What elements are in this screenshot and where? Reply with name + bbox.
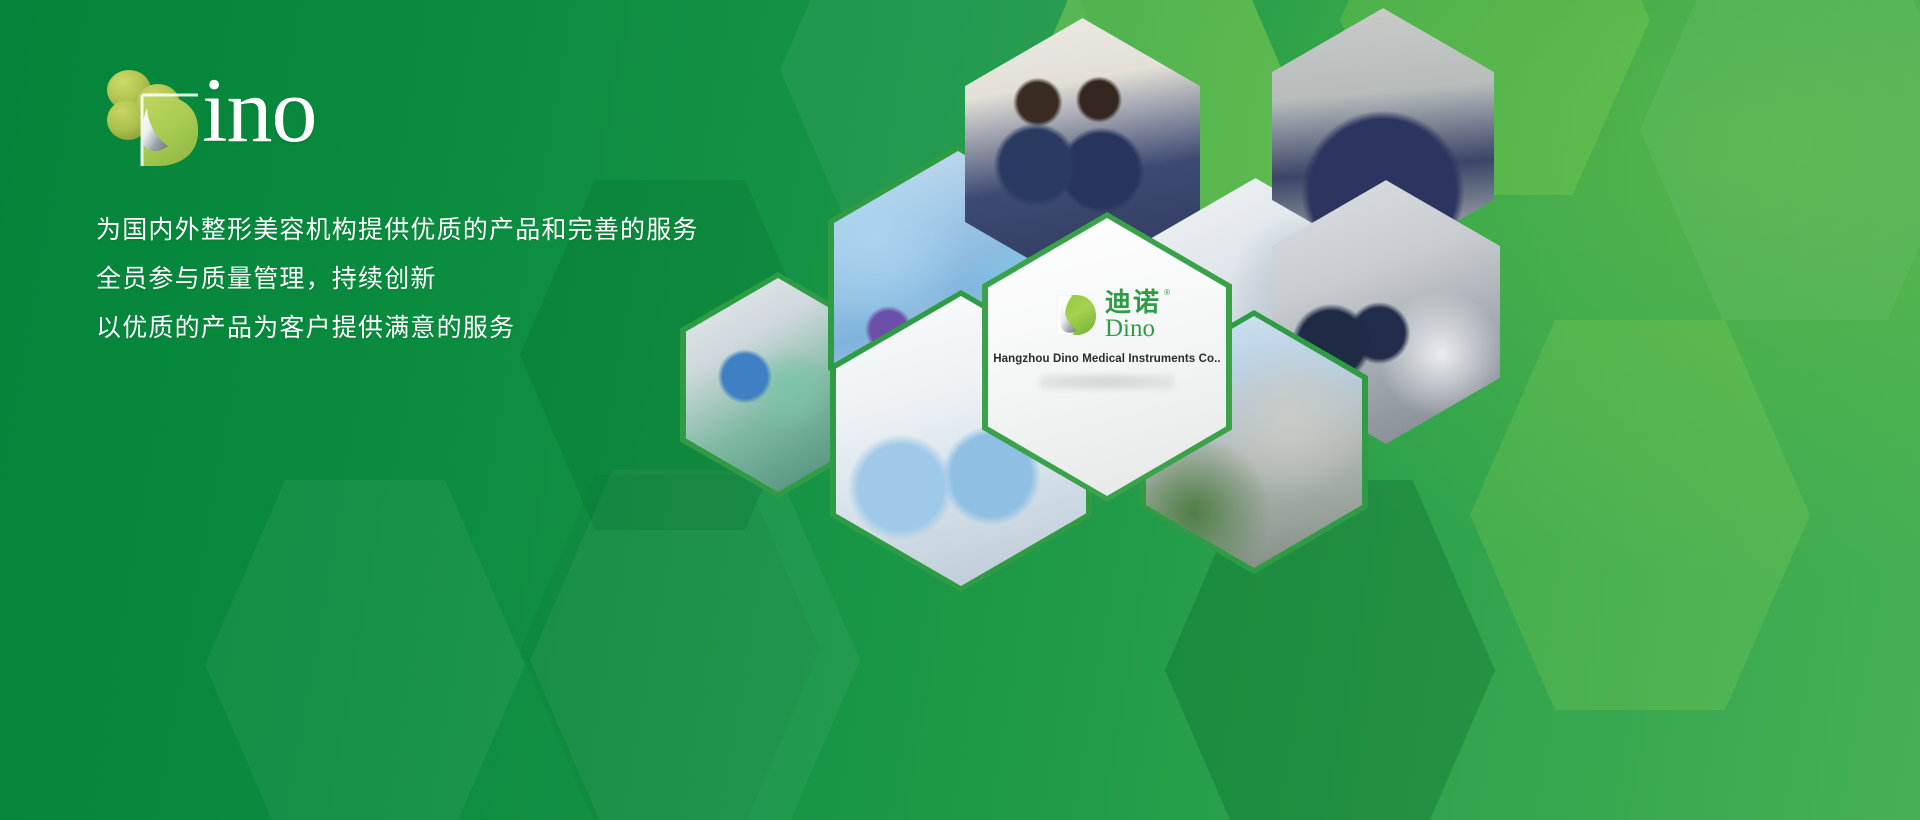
center-logo-cn: 迪诺: [1105, 289, 1161, 315]
bg-hex-5: [205, 480, 525, 820]
dino-leaf-icon: [96, 62, 216, 166]
dino-leaf-icon-small: [1053, 292, 1099, 338]
hexagon-photo-collage: 迪诺 Dino ® Hangzhou Dino Medical Instrume…: [680, 0, 1920, 820]
center-logo-lockup: 迪诺 Dino ®: [988, 289, 1226, 341]
registered-mark-icon: ®: [1164, 289, 1170, 297]
brand-logo: ino: [96, 62, 396, 166]
center-logo-content: 迪诺 Dino ® Hangzhou Dino Medical Instrume…: [988, 289, 1226, 389]
center-logo-company-name: Hangzhou Dino Medical Instruments Co..: [988, 353, 1226, 365]
center-logo-text: 迪诺 Dino ®: [1105, 289, 1161, 341]
brand-wordmark: ino: [202, 58, 317, 162]
center-logo-en: Dino: [1105, 316, 1155, 341]
center-logo-blurred-text: [1040, 375, 1173, 389]
hero-banner: ino 为国内外整形美容机构提供优质的产品和完善的服务 全员参与质量管理，持续创…: [0, 0, 1920, 820]
